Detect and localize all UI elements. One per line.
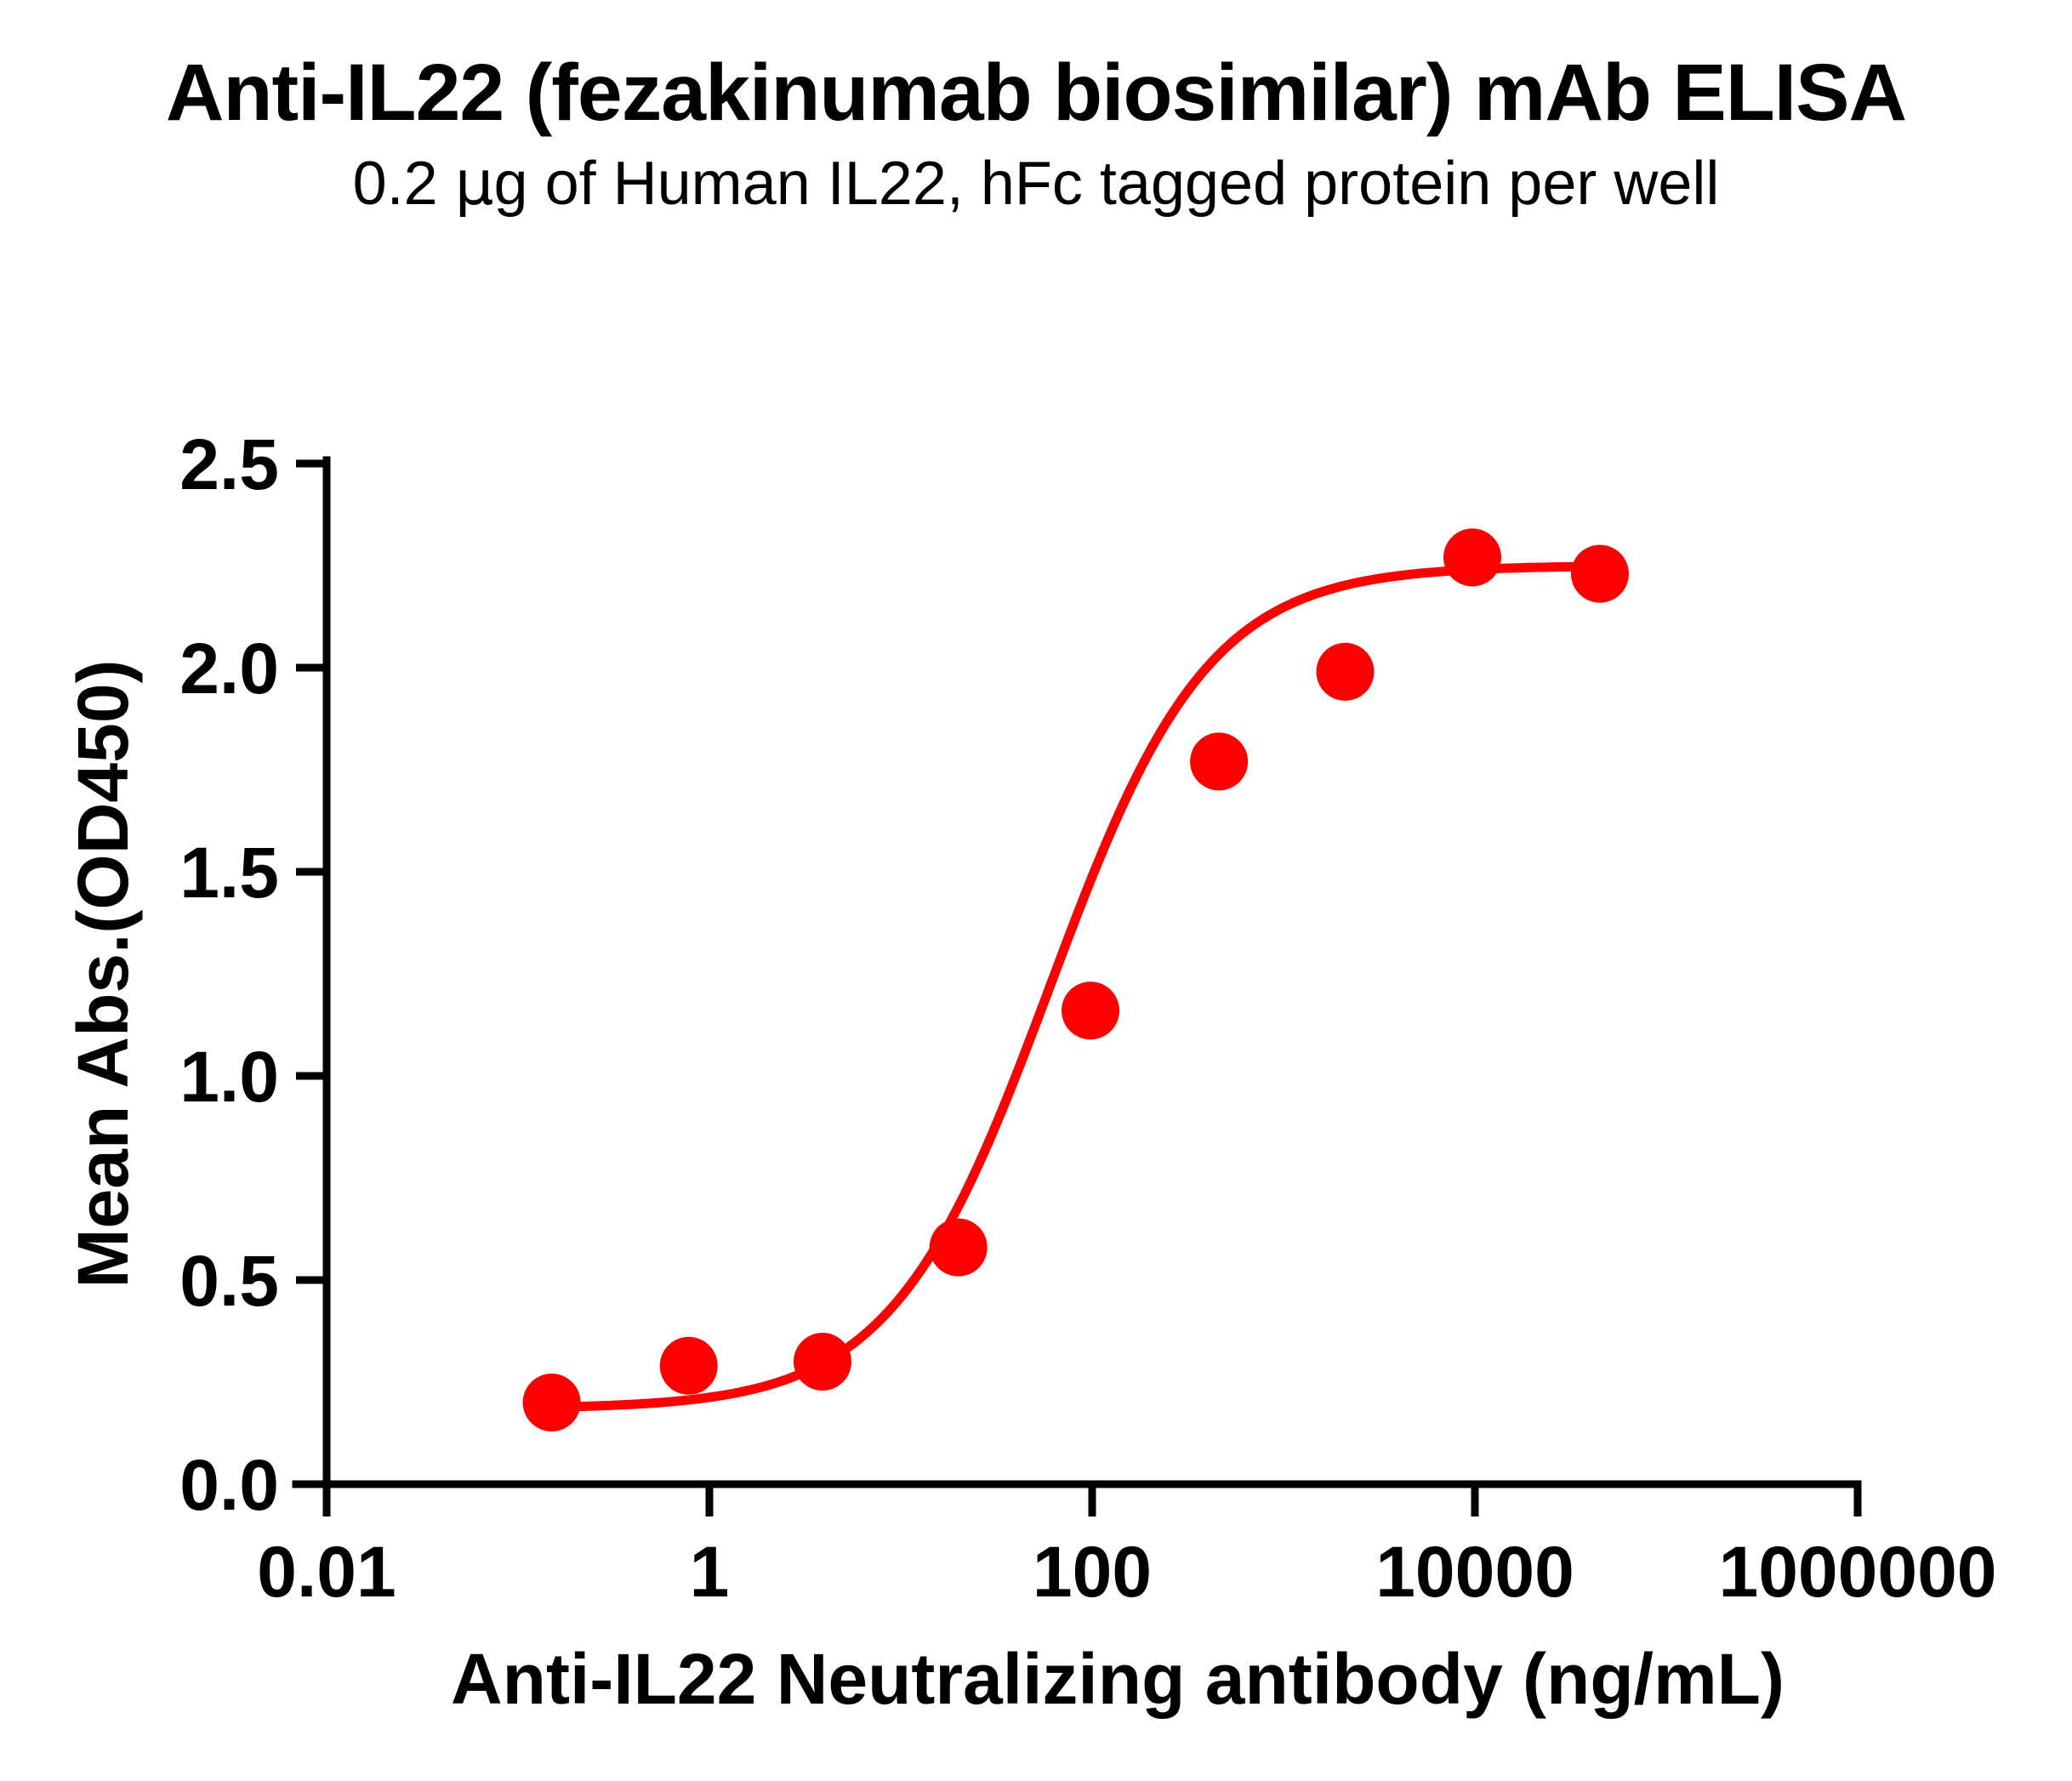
data-point-5 <box>1190 732 1248 790</box>
x-tick-label-2: 100 <box>1033 1532 1152 1612</box>
data-point-7 <box>1443 528 1501 586</box>
elisa-chart-figure: Anti-IL22 (fezakinumab biosimilar) mAb E… <box>0 0 2072 1781</box>
x-axis-title: Anti-IL22 Neutralizing antibody (ng/mL) <box>451 1639 1785 1719</box>
plot-canvas: 0.00.51.01.52.02.5 0.011100100001000000 … <box>0 0 2072 1781</box>
x-tick-label-0: 0.01 <box>257 1532 396 1612</box>
data-point-8 <box>1571 545 1629 603</box>
data-point-6 <box>1317 643 1375 701</box>
y-tick-label-4: 2.0 <box>179 629 279 708</box>
y-tick-label-1: 0.5 <box>179 1241 279 1321</box>
y-tick-label-0: 0.0 <box>179 1445 279 1525</box>
data-point-1 <box>660 1337 718 1395</box>
y-tick-label-5: 2.5 <box>179 424 279 504</box>
x-tick-label-1: 1 <box>690 1532 730 1612</box>
y-axis-title: Mean Abs.(OD450) <box>63 659 143 1288</box>
y-axis: 0.00.51.01.52.02.5 <box>179 424 327 1525</box>
data-points-group <box>523 528 1629 1431</box>
data-point-4 <box>1062 982 1119 1039</box>
y-tick-label-3: 1.5 <box>179 833 279 913</box>
x-axis: 0.011100100001000000 <box>257 1484 1996 1612</box>
y-tick-label-2: 1.0 <box>179 1037 279 1117</box>
data-point-3 <box>930 1219 988 1277</box>
x-tick-label-3: 10000 <box>1375 1532 1574 1612</box>
data-point-0 <box>523 1374 581 1431</box>
x-tick-label-4: 1000000 <box>1718 1532 1996 1612</box>
data-point-2 <box>794 1333 851 1391</box>
